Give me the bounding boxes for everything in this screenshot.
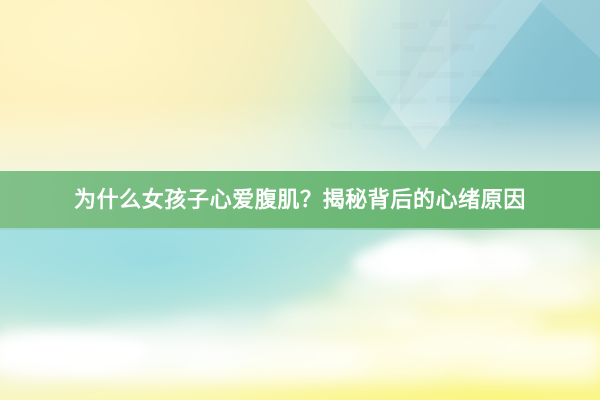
texture-mark xyxy=(404,46,444,52)
geometric-decor-layer xyxy=(0,0,600,172)
header-image-canvas: 为什么女孩子心爱腹肌？揭秘背后的心绪原因 xyxy=(0,0,600,400)
texture-mark xyxy=(436,96,460,103)
texture-mark xyxy=(362,124,402,130)
bottom-light-wash xyxy=(0,100,600,172)
texture-mark xyxy=(430,20,448,27)
texture-mark xyxy=(352,96,380,103)
triangle-shape-diagonal xyxy=(380,8,450,126)
page-title: 为什么女孩子心爱腹肌？揭秘背后的心绪原因 xyxy=(74,189,526,211)
texture-mark xyxy=(466,24,496,30)
title-banner: 为什么女孩子心爱腹肌？揭秘背后的心绪原因 xyxy=(0,171,600,228)
texture-mark xyxy=(452,44,474,51)
texture-mark xyxy=(470,98,500,104)
triangle-shape-main xyxy=(306,0,542,150)
texture-mark xyxy=(472,70,492,77)
texture-mark xyxy=(412,122,438,129)
sky-haze-band xyxy=(0,316,600,386)
texture-mark xyxy=(418,72,464,78)
texture-mark xyxy=(448,124,482,130)
triangle-shape-shadow xyxy=(400,0,504,112)
texture-mark xyxy=(330,122,352,129)
texture-mark xyxy=(390,98,426,104)
texture-mark xyxy=(376,70,410,76)
top-gradient-panel xyxy=(0,0,600,172)
sky-scene-panel xyxy=(0,228,600,400)
texture-mark xyxy=(392,22,418,29)
triangle-shape-corner xyxy=(538,0,600,58)
texture-mark xyxy=(492,122,510,129)
